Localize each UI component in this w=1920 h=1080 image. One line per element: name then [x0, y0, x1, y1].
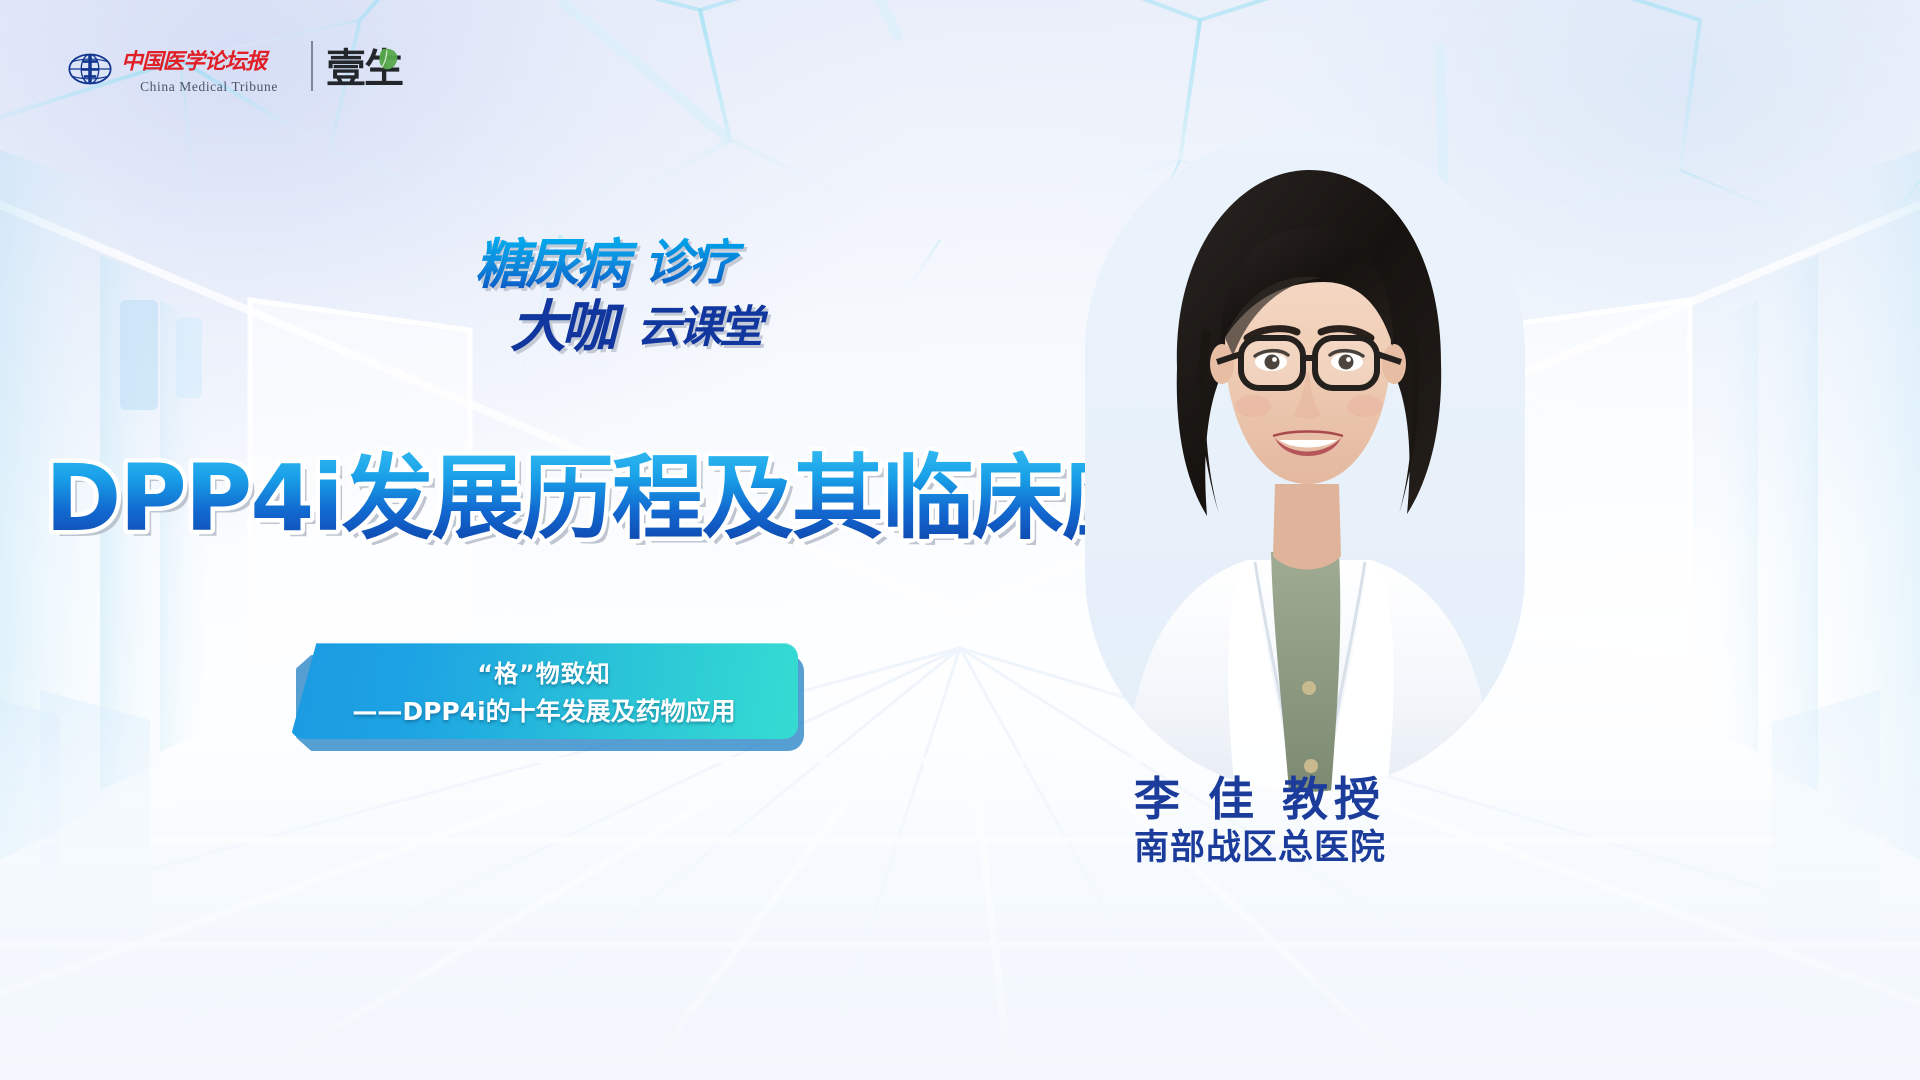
brand-logo[interactable]: 中国医学论坛报 China Medical Tribune 壹生	[68, 33, 430, 95]
female-doctor-portrait	[1085, 132, 1525, 792]
subtitle-plaque: “格”物致知 ——DPP4i的十年发展及药物应用	[290, 643, 810, 753]
globe-caduceus-icon	[68, 47, 112, 91]
platform-name-cn: 壹生	[326, 43, 430, 93]
speaker-name: 李 佳 教授	[1070, 775, 1450, 823]
series-badge: 糖尿病 糖尿病 诊疗 诊疗 大咖 大咖 云课堂 云课堂	[470, 228, 890, 368]
series-line1-a: 糖尿病	[475, 233, 638, 296]
speaker-portrait	[1085, 132, 1545, 792]
svg-text:中国医学论坛报: 中国医学论坛报	[121, 50, 271, 75]
speaker-info: 李 佳 教授 南部战区总医院	[1070, 775, 1450, 868]
logo-divider	[311, 41, 313, 91]
slide-canvas: 中国医学论坛报 China Medical Tribune 壹生	[0, 0, 1920, 1080]
series-line2-b: 云课堂	[637, 302, 769, 353]
plaque-line-2: ——DPP4i的十年发展及药物应用	[352, 692, 735, 728]
series-line1-b: 诊疗	[644, 235, 745, 291]
series-line2-a: 大咖	[510, 295, 625, 360]
publisher-name-cn: 中国医学论坛报	[120, 44, 298, 78]
portrait-backdrop	[1085, 132, 1525, 792]
page-title: DPP4i发展历程及其临床应用 DPP4i发展历程及其临床应用 DPP4i发展历…	[0, 440, 1110, 560]
speaker-organization: 南部战区总医院	[1070, 829, 1450, 868]
page-title-text: DPP4i发展历程及其临床应用	[45, 445, 1085, 552]
publisher-name-en: China Medical Tribune	[140, 79, 278, 95]
plaque-line-1: “格”物致知	[477, 654, 611, 689]
